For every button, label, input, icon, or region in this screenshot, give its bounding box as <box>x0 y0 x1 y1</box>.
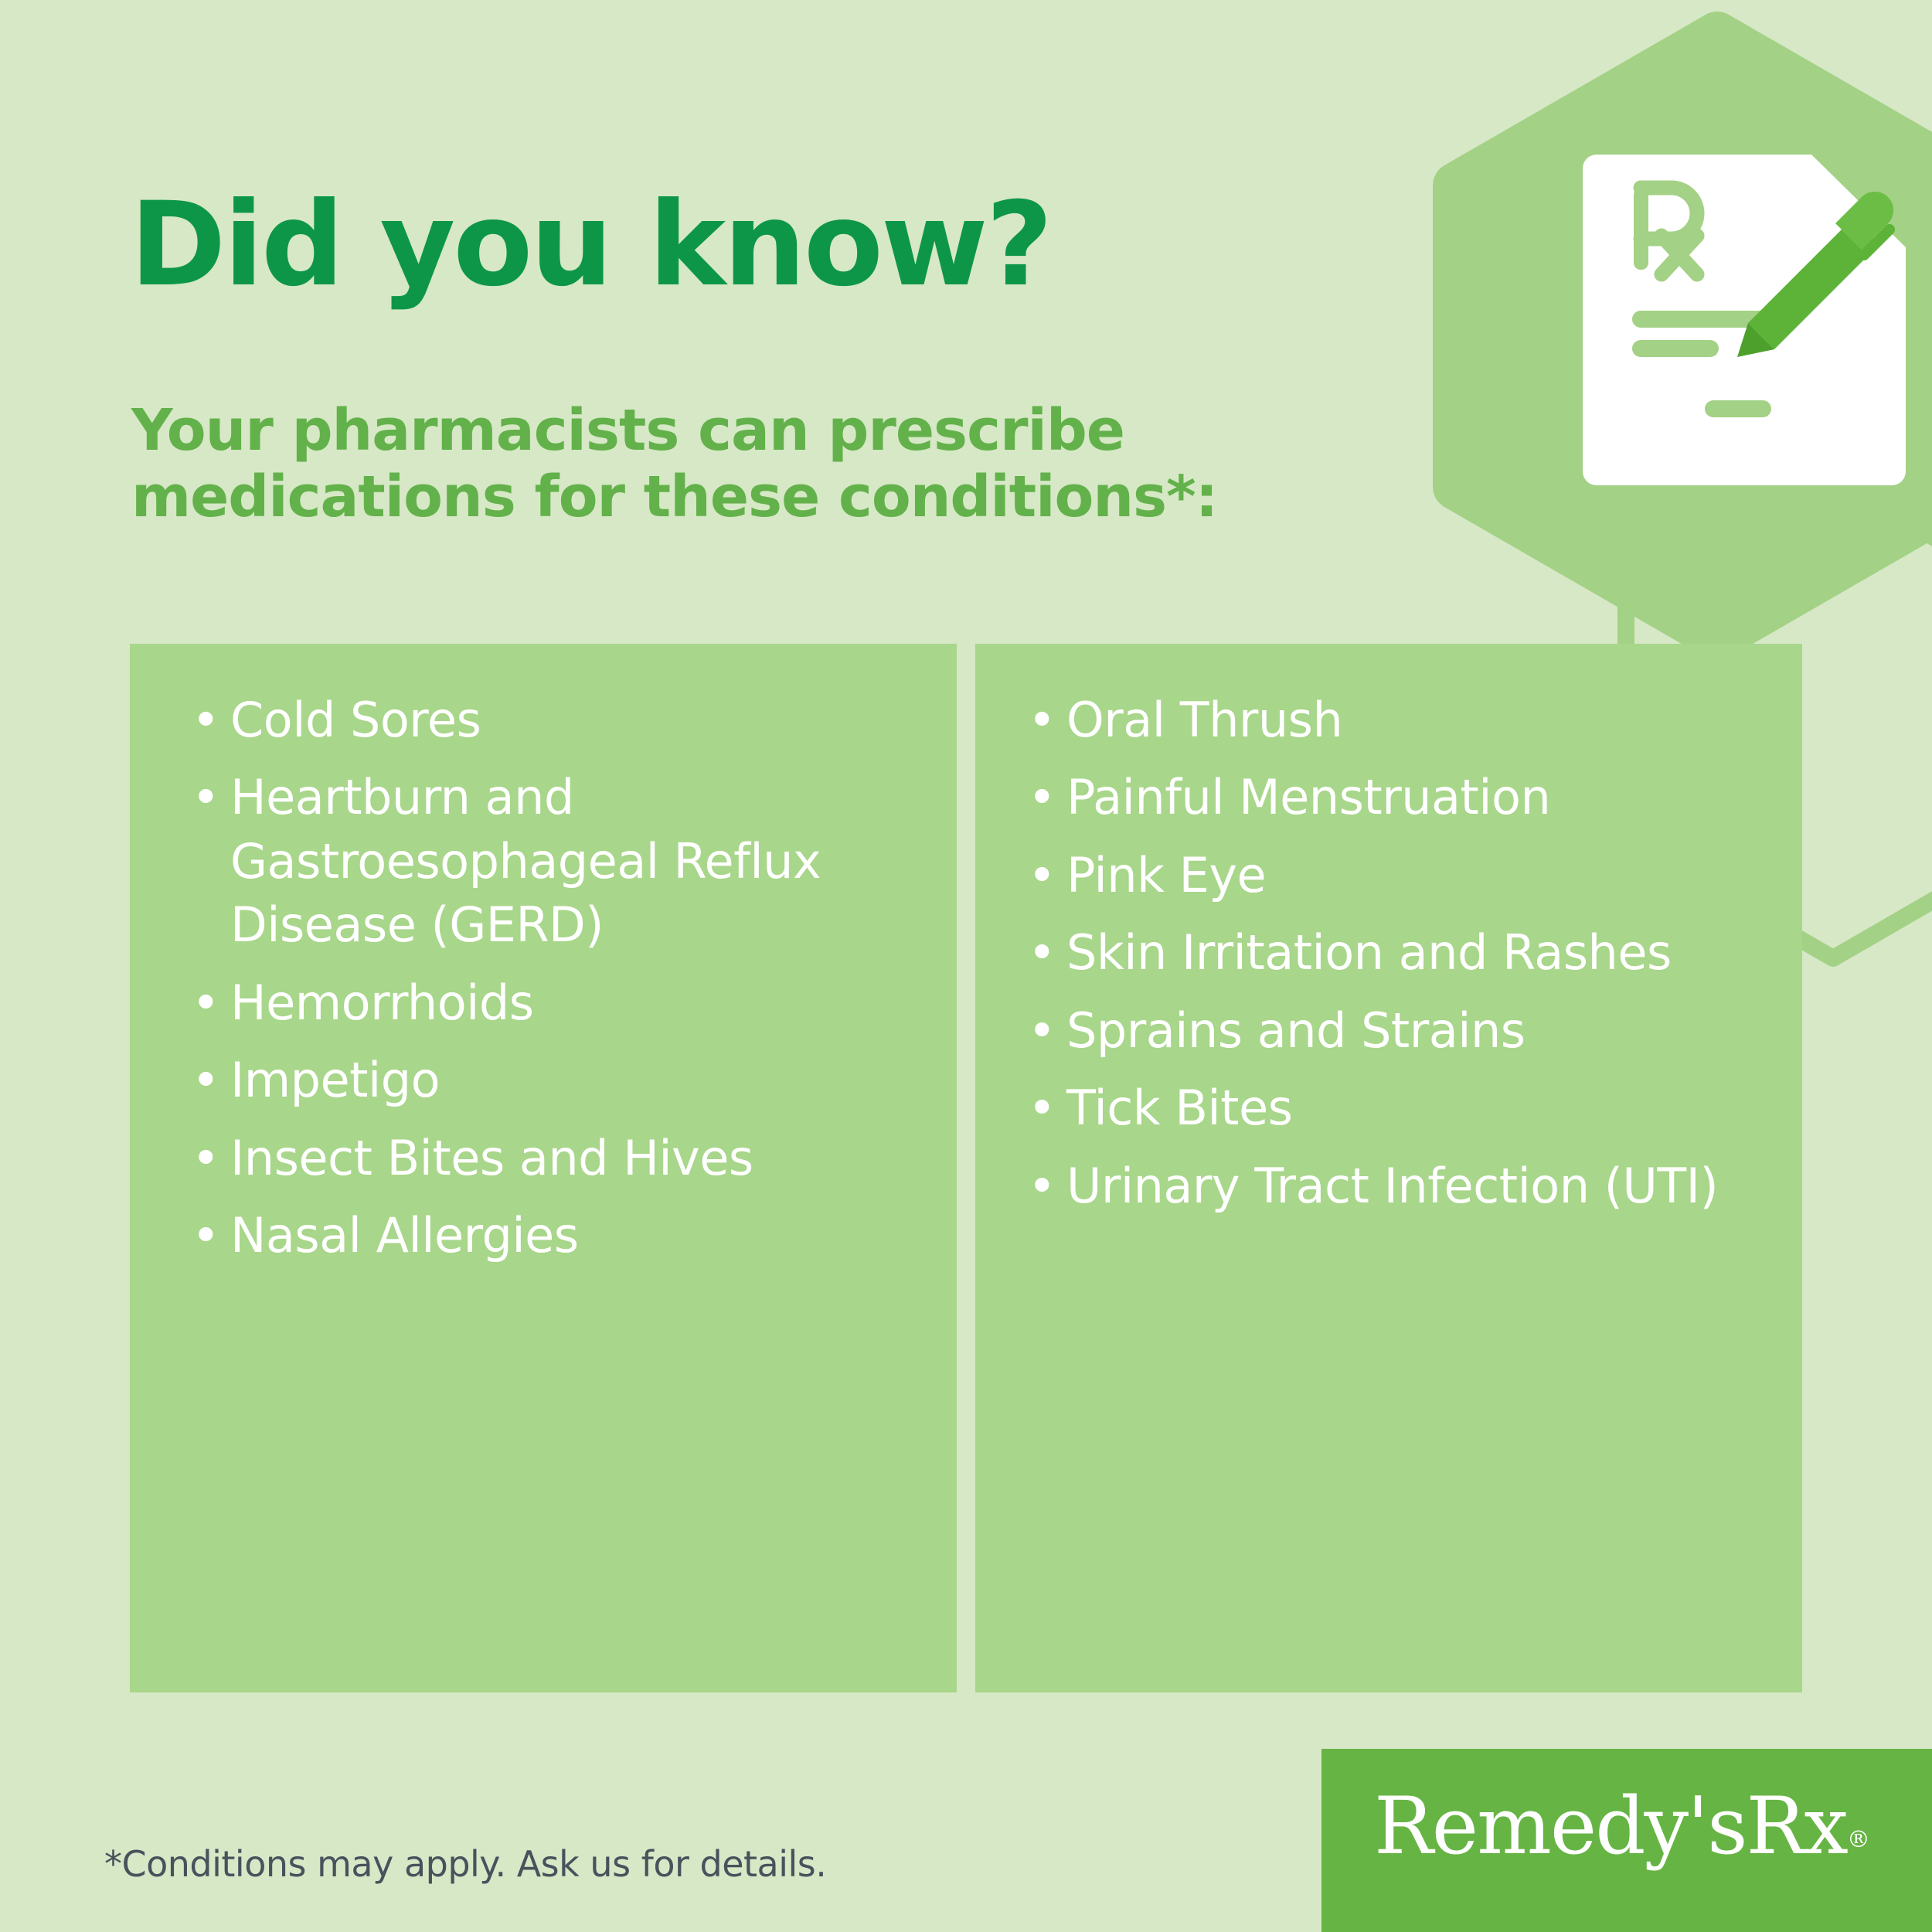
conditions-panel-right: Oral Thrush Painful Menstruation Pink Ey… <box>975 644 1802 1692</box>
page-subtitle-line-1: Your pharmacists can prescribe <box>131 398 1217 464</box>
page-subtitle: Your pharmacists can prescribe medicatio… <box>131 398 1217 531</box>
list-item: Pink Eye <box>1028 844 1779 907</box>
list-item: Sprains and Strains <box>1028 999 1779 1063</box>
page-subtitle-line-2: medications for these conditions*: <box>131 464 1217 531</box>
list-item: Skin Irritation and Rashes <box>1028 921 1779 985</box>
conditions-list-left: Cold Sores Heartburn and Gastroesophagea… <box>130 644 957 1268</box>
brand-wordmark-text: Remedy'sRx <box>1374 1781 1847 1872</box>
disclaimer-text: *Conditions may apply. Ask us for detail… <box>104 1843 826 1885</box>
registered-trademark-icon: ® <box>1847 1826 1870 1853</box>
page-title: Did you know? <box>130 186 1051 304</box>
conditions-list-right: Oral Thrush Painful Menstruation Pink Ey… <box>975 644 1802 1218</box>
list-item: Painful Menstruation <box>1028 766 1779 829</box>
list-item: Oral Thrush <box>1028 689 1779 752</box>
list-item: Insect Bites and Hives <box>192 1127 934 1190</box>
hexagon-solid-shape <box>1456 35 1932 638</box>
list-item: Tick Bites <box>1028 1077 1779 1140</box>
list-item: Urinary Tract Infection (UTI) <box>1028 1155 1779 1218</box>
list-item: Cold Sores <box>192 689 934 752</box>
brand-wordmark: Remedy'sRx® <box>1374 1787 1870 1866</box>
list-item: Impetigo <box>192 1049 934 1112</box>
poster-canvas: Did you know? Your pharmacists can presc… <box>0 0 1932 1932</box>
list-item: Hemorrhoids <box>192 971 934 1035</box>
list-item: Heartburn and Gastroesophageal Reflux Di… <box>192 766 934 957</box>
prescription-document-icon <box>1583 155 1906 485</box>
pencil-icon <box>1737 192 1893 357</box>
brand-logo-block: Remedy'sRx® <box>1321 1749 1932 1932</box>
list-item: Nasal Allergies <box>192 1204 934 1267</box>
conditions-panel-left: Cold Sores Heartburn and Gastroesophagea… <box>130 644 957 1692</box>
